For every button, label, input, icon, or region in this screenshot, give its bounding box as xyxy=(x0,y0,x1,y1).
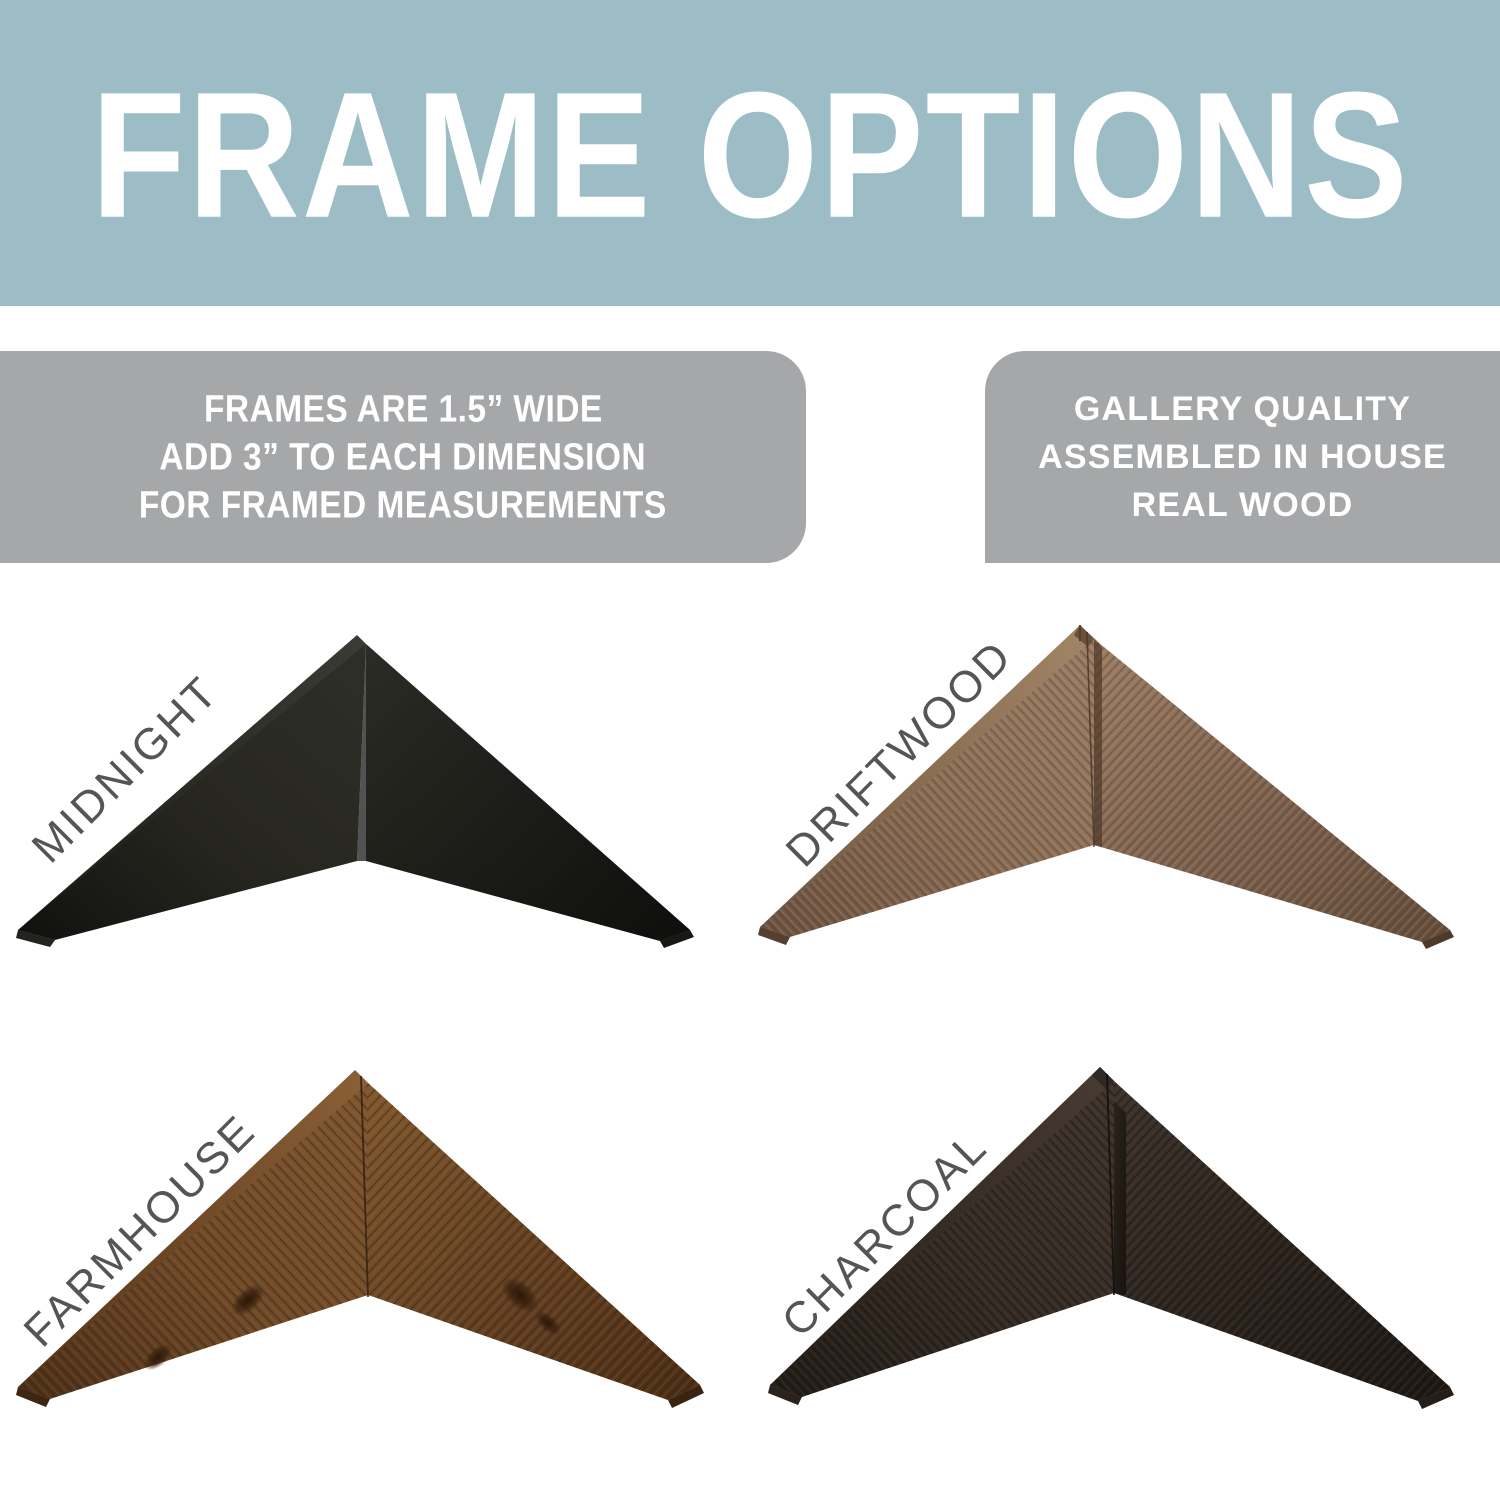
frame-sample-farmhouse[interactable]: FARMHOUSE xyxy=(0,1045,750,1500)
header-banner: FRAME OPTIONS xyxy=(0,0,1500,306)
quality-info-line-1: GALLERY QUALITY xyxy=(1074,385,1411,433)
quality-info-box: GALLERY QUALITY ASSEMBLED IN HOUSE REAL … xyxy=(985,351,1500,563)
quality-info-line-2: ASSEMBLED IN HOUSE xyxy=(1038,433,1447,481)
sizing-info-line-1: FRAMES ARE 1.5” WIDE xyxy=(204,384,603,435)
frame-sample-driftwood[interactable]: DRIFTWOOD xyxy=(750,585,1500,1040)
sizing-info-line-2: ADD 3” TO EACH DIMENSION xyxy=(160,432,647,483)
frame-options-page: FRAME OPTIONS FRAMES ARE 1.5” WIDE ADD 3… xyxy=(0,0,1500,1500)
sizing-info-box: FRAMES ARE 1.5” WIDE ADD 3” TO EACH DIME… xyxy=(0,351,806,563)
sizing-info-line-3: FOR FRAMED MEASUREMENTS xyxy=(139,480,667,531)
frame-sample-midnight[interactable]: MIDNIGHT xyxy=(0,585,750,1040)
frame-sample-charcoal[interactable]: CHARCOAL xyxy=(750,1045,1500,1500)
quality-info-line-3: REAL WOOD xyxy=(1132,481,1354,529)
page-title: FRAME OPTIONS xyxy=(91,61,1410,245)
frame-samples-grid: MIDNIGHT xyxy=(0,585,1500,1500)
